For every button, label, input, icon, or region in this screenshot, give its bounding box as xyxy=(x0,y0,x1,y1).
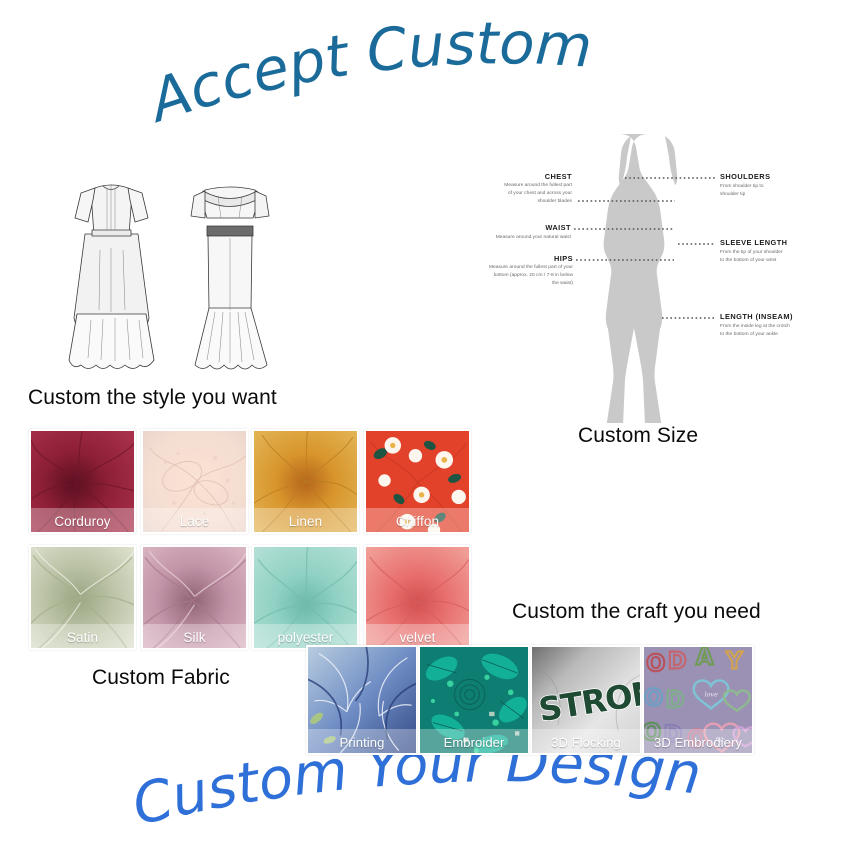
svg-text:O: O xyxy=(646,651,665,677)
fabric-swatch-velvet[interactable]: velvet xyxy=(364,545,471,650)
svg-text:Y: Y xyxy=(725,649,743,675)
sketch-short-sleeve-tiered-maxi-dress xyxy=(69,184,154,369)
svg-text:O: O xyxy=(644,685,663,711)
svg-text:D: D xyxy=(666,687,685,713)
measure-label-chest: CHEST xyxy=(450,172,572,181)
fabric-label: Satin xyxy=(29,624,136,650)
measure-desc-hips: Measure around the fullest part of your … xyxy=(450,264,573,288)
headline-accept-custom: Accept Custom xyxy=(150,18,670,128)
fabric-swatch-corduroy[interactable]: Corduroy xyxy=(29,429,136,534)
craft-swatch-printing[interactable]: Printing xyxy=(306,645,418,755)
measure-label-sleeve-length: SLEEVE LENGTH xyxy=(720,238,787,247)
svg-text:A: A xyxy=(696,647,714,670)
craft-swatch-embroider[interactable]: Embroider xyxy=(418,645,530,755)
caption-custom-style: Custom the style you want xyxy=(28,386,277,410)
craft-label: Embroider xyxy=(418,729,530,755)
fabric-label: Corduroy xyxy=(29,508,136,534)
fabric-swatch-polyester[interactable]: polyester xyxy=(252,545,359,650)
caption-custom-craft: Custom the craft you need xyxy=(512,600,761,624)
product-detail-banner: Accept Custom xyxy=(0,0,850,850)
fabric-swatch-chiffon[interactable]: Chiffon xyxy=(364,429,471,534)
svg-text:love: love xyxy=(704,691,718,699)
measure-desc-length-inseam: From the inside leg at the crotch to the… xyxy=(720,323,790,339)
size-measurement-chart: CHEST Measure around the fullest part of… xyxy=(450,128,850,423)
measure-label-length-inseam: LENGTH (INSEAM) xyxy=(720,312,793,321)
craft-label: 3D Flocking xyxy=(530,729,642,755)
fabric-label: Silk xyxy=(141,624,248,650)
fabric-swatch-silk[interactable]: Silk xyxy=(141,545,248,650)
style-sketches xyxy=(55,160,305,380)
fabric-swatch-linen[interactable]: Linen xyxy=(252,429,359,534)
measure-desc-shoulders: From shoulder tip to shoulder tip xyxy=(720,183,764,199)
measure-label-hips: HIPS xyxy=(450,254,573,263)
female-silhouette-icon xyxy=(604,134,678,423)
fabric-label: Linen xyxy=(252,508,359,534)
sketch-off-shoulder-mermaid-dress xyxy=(191,187,269,369)
headline-top-text: Accept Custom xyxy=(150,18,594,128)
fabric-swatch-satin[interactable]: Satin xyxy=(29,545,136,650)
fabric-label: Chiffon xyxy=(364,508,471,534)
headline-custom-your-design: Custom Your Design xyxy=(130,745,730,855)
measure-label-shoulders: SHOULDERS xyxy=(720,172,770,181)
craft-label: 3D Embrodiery xyxy=(642,729,754,755)
fabric-label: Lace xyxy=(141,508,248,534)
caption-custom-size: Custom Size xyxy=(578,424,698,448)
fabric-swatch-lace[interactable]: Lace xyxy=(141,429,248,534)
svg-text:D: D xyxy=(668,649,687,675)
caption-custom-fabric: Custom Fabric xyxy=(92,666,230,690)
craft-label: Printing xyxy=(306,729,418,755)
craft-swatch-3d-embrodiery[interactable]: O D A Y O D O D O xyxy=(642,645,754,755)
measure-desc-sleeve-length: From the tip of your shoulder to the bot… xyxy=(720,249,783,265)
measure-label-waist: WAIST xyxy=(450,223,571,232)
headline-bottom-text: Custom Your Design xyxy=(130,745,704,839)
craft-swatch-3d-flocking[interactable]: STRONG 3D Flocking xyxy=(530,645,642,755)
measure-desc-chest: Measure around the fullest part of your … xyxy=(450,182,572,206)
svg-text:Accept Custom: Accept Custom xyxy=(150,18,594,128)
measure-desc-waist: Measure around your natural waist xyxy=(450,234,571,242)
svg-text:Custom Your Design: Custom Your Design xyxy=(130,745,704,839)
